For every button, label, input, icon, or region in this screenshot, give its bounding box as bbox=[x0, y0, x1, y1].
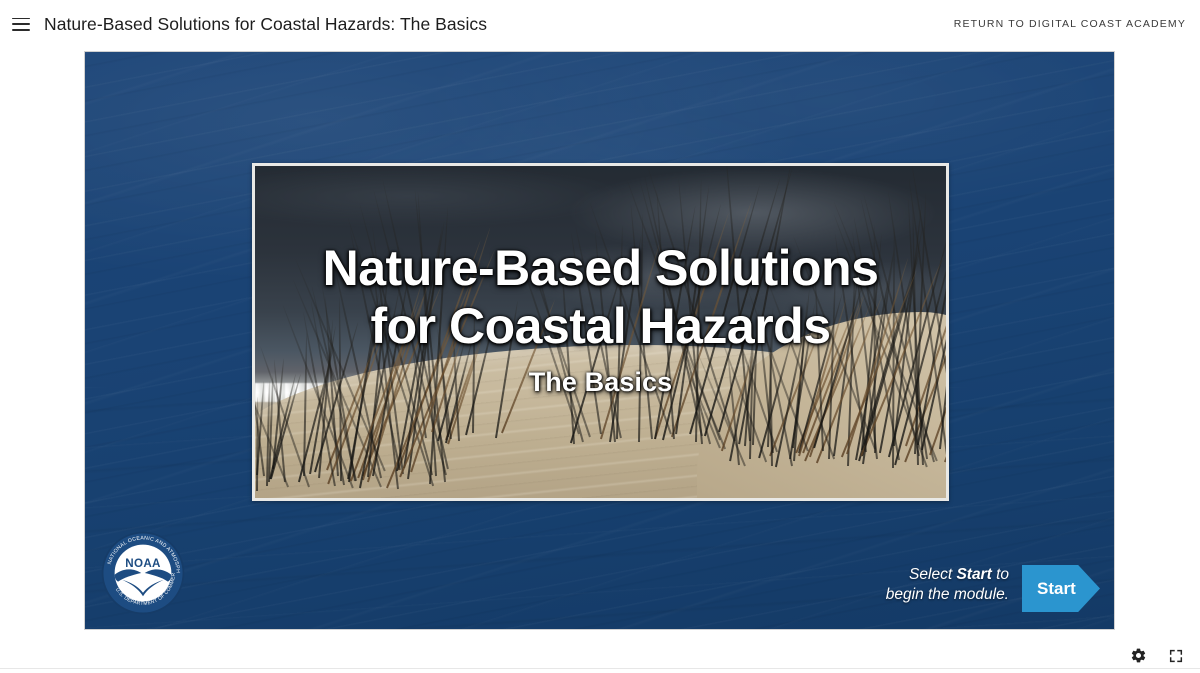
start-prompt-line-2: begin the module. bbox=[819, 585, 1009, 605]
start-button[interactable]: Start bbox=[1022, 565, 1100, 612]
dune-photo bbox=[255, 166, 946, 498]
hamburger-line bbox=[12, 18, 30, 20]
start-prompt-strong: Start bbox=[956, 566, 991, 583]
title-photo-frame: Nature-Based Solutions for Coastal Hazar… bbox=[252, 163, 949, 501]
course-slide: Nature-Based Solutions for Coastal Hazar… bbox=[85, 52, 1114, 629]
app-header: Nature-Based Solutions for Coastal Hazar… bbox=[0, 0, 1200, 48]
hamburger-line bbox=[12, 23, 30, 25]
hamburger-line bbox=[12, 29, 30, 31]
player-stage: Nature-Based Solutions for Coastal Hazar… bbox=[0, 48, 1200, 638]
start-prompt-line-1: Select Start to bbox=[819, 565, 1009, 585]
gear-icon[interactable] bbox=[1128, 646, 1148, 666]
start-prompt-pre: Select bbox=[909, 566, 956, 583]
fullscreen-icon[interactable] bbox=[1166, 646, 1186, 666]
return-to-academy-link[interactable]: RETURN TO DIGITAL COAST ACADEMY bbox=[954, 18, 1186, 30]
start-prompt: Select Start to begin the module. bbox=[819, 565, 1009, 606]
start-prompt-post: to bbox=[992, 566, 1009, 583]
bottom-divider bbox=[0, 668, 1200, 669]
page-title: Nature-Based Solutions for Coastal Hazar… bbox=[44, 14, 487, 35]
noaa-wordmark: NOAA bbox=[125, 557, 161, 570]
noaa-logo: NATIONAL OCEANIC AND ATMOSPHERIC ADMIN U… bbox=[100, 530, 186, 616]
hamburger-menu-icon[interactable] bbox=[12, 18, 30, 31]
